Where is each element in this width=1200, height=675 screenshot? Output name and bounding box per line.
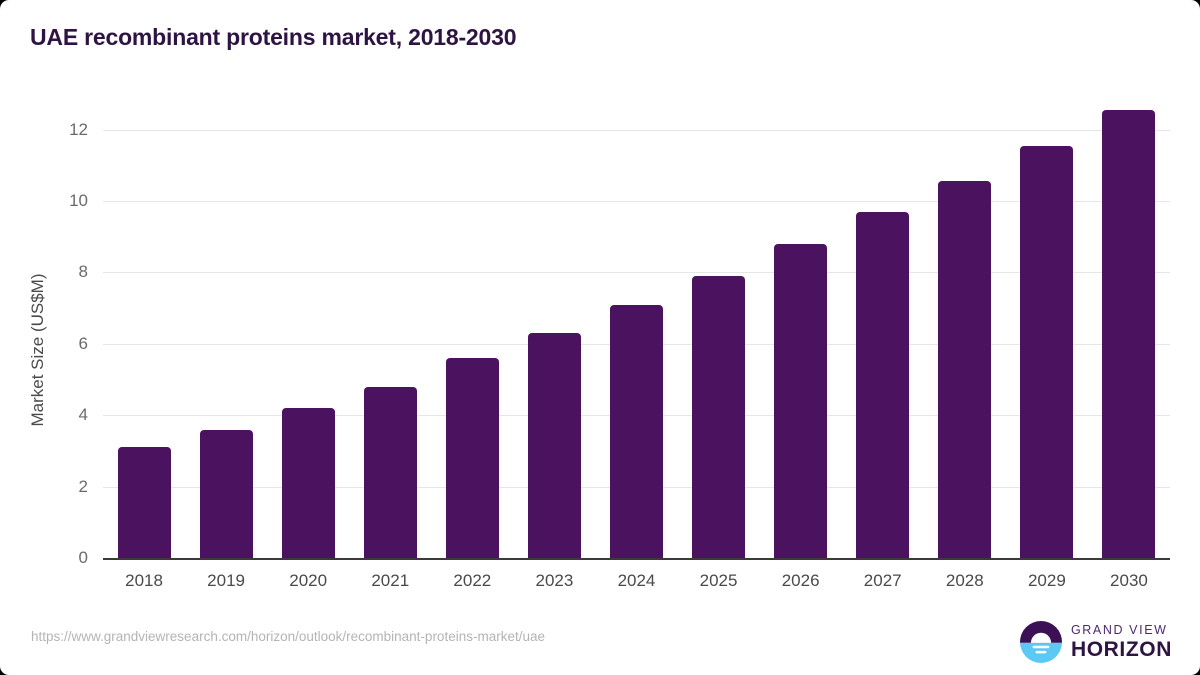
x-tick-label-2025: 2025 xyxy=(678,571,760,591)
bar-2024[interactable] xyxy=(610,305,663,558)
bar-slot xyxy=(924,94,1006,558)
bar-2019[interactable] xyxy=(200,430,253,558)
y-tick-label: 0 xyxy=(18,548,88,568)
bar-2023[interactable] xyxy=(528,333,581,558)
bar-slot xyxy=(431,94,513,558)
x-tick-label-2028: 2028 xyxy=(924,571,1006,591)
x-tick-label-2024: 2024 xyxy=(595,571,677,591)
x-tick-label-2026: 2026 xyxy=(760,571,842,591)
bar-slot xyxy=(1088,94,1170,558)
y-tick-label: 12 xyxy=(18,120,88,140)
bar-2021[interactable] xyxy=(364,387,417,558)
x-tick-label-2027: 2027 xyxy=(842,571,924,591)
x-tick-label-2022: 2022 xyxy=(431,571,513,591)
bar-2028[interactable] xyxy=(938,181,991,558)
bar-slot xyxy=(513,94,595,558)
x-tick-label-2030: 2030 xyxy=(1088,571,1170,591)
bar-2027[interactable] xyxy=(856,212,909,558)
bar-slot xyxy=(185,94,267,558)
x-tick-label-2018: 2018 xyxy=(103,571,185,591)
bar-2026[interactable] xyxy=(774,244,827,558)
horizon-sun-icon xyxy=(1020,621,1062,663)
chart-canvas: UAE recombinant proteins market, 2018-20… xyxy=(0,0,1200,675)
x-axis-line xyxy=(103,558,1170,560)
bar-2020[interactable] xyxy=(282,408,335,558)
bar-slot xyxy=(760,94,842,558)
page-title: UAE recombinant proteins market, 2018-20… xyxy=(30,24,516,51)
bar-slot xyxy=(267,94,349,558)
logo-line-horizon: HORIZON xyxy=(1071,639,1172,660)
plot-area xyxy=(103,94,1170,558)
bar-2030[interactable] xyxy=(1102,110,1155,558)
bar-slot xyxy=(678,94,760,558)
bar-slot xyxy=(842,94,924,558)
bar-slot xyxy=(103,94,185,558)
bar-2025[interactable] xyxy=(692,276,745,558)
logo-text: GRAND VIEW HORIZON xyxy=(1071,624,1172,661)
bar-2018[interactable] xyxy=(118,447,171,558)
x-tick-label-2019: 2019 xyxy=(185,571,267,591)
brand-logo[interactable]: GRAND VIEW HORIZON xyxy=(1020,620,1172,664)
y-axis-title: Market Size (US$M) xyxy=(28,150,48,550)
bar-slot xyxy=(1006,94,1088,558)
bar-2022[interactable] xyxy=(446,358,499,558)
x-tick-label-2029: 2029 xyxy=(1006,571,1088,591)
bar-slot xyxy=(595,94,677,558)
x-tick-label-2020: 2020 xyxy=(267,571,349,591)
bar-2029[interactable] xyxy=(1020,146,1073,558)
logo-line-grand-view: GRAND VIEW xyxy=(1071,624,1172,637)
bar-slot xyxy=(349,94,431,558)
x-tick-label-2023: 2023 xyxy=(513,571,595,591)
source-url[interactable]: https://www.grandviewresearch.com/horizo… xyxy=(31,629,545,644)
x-tick-label-2021: 2021 xyxy=(349,571,431,591)
